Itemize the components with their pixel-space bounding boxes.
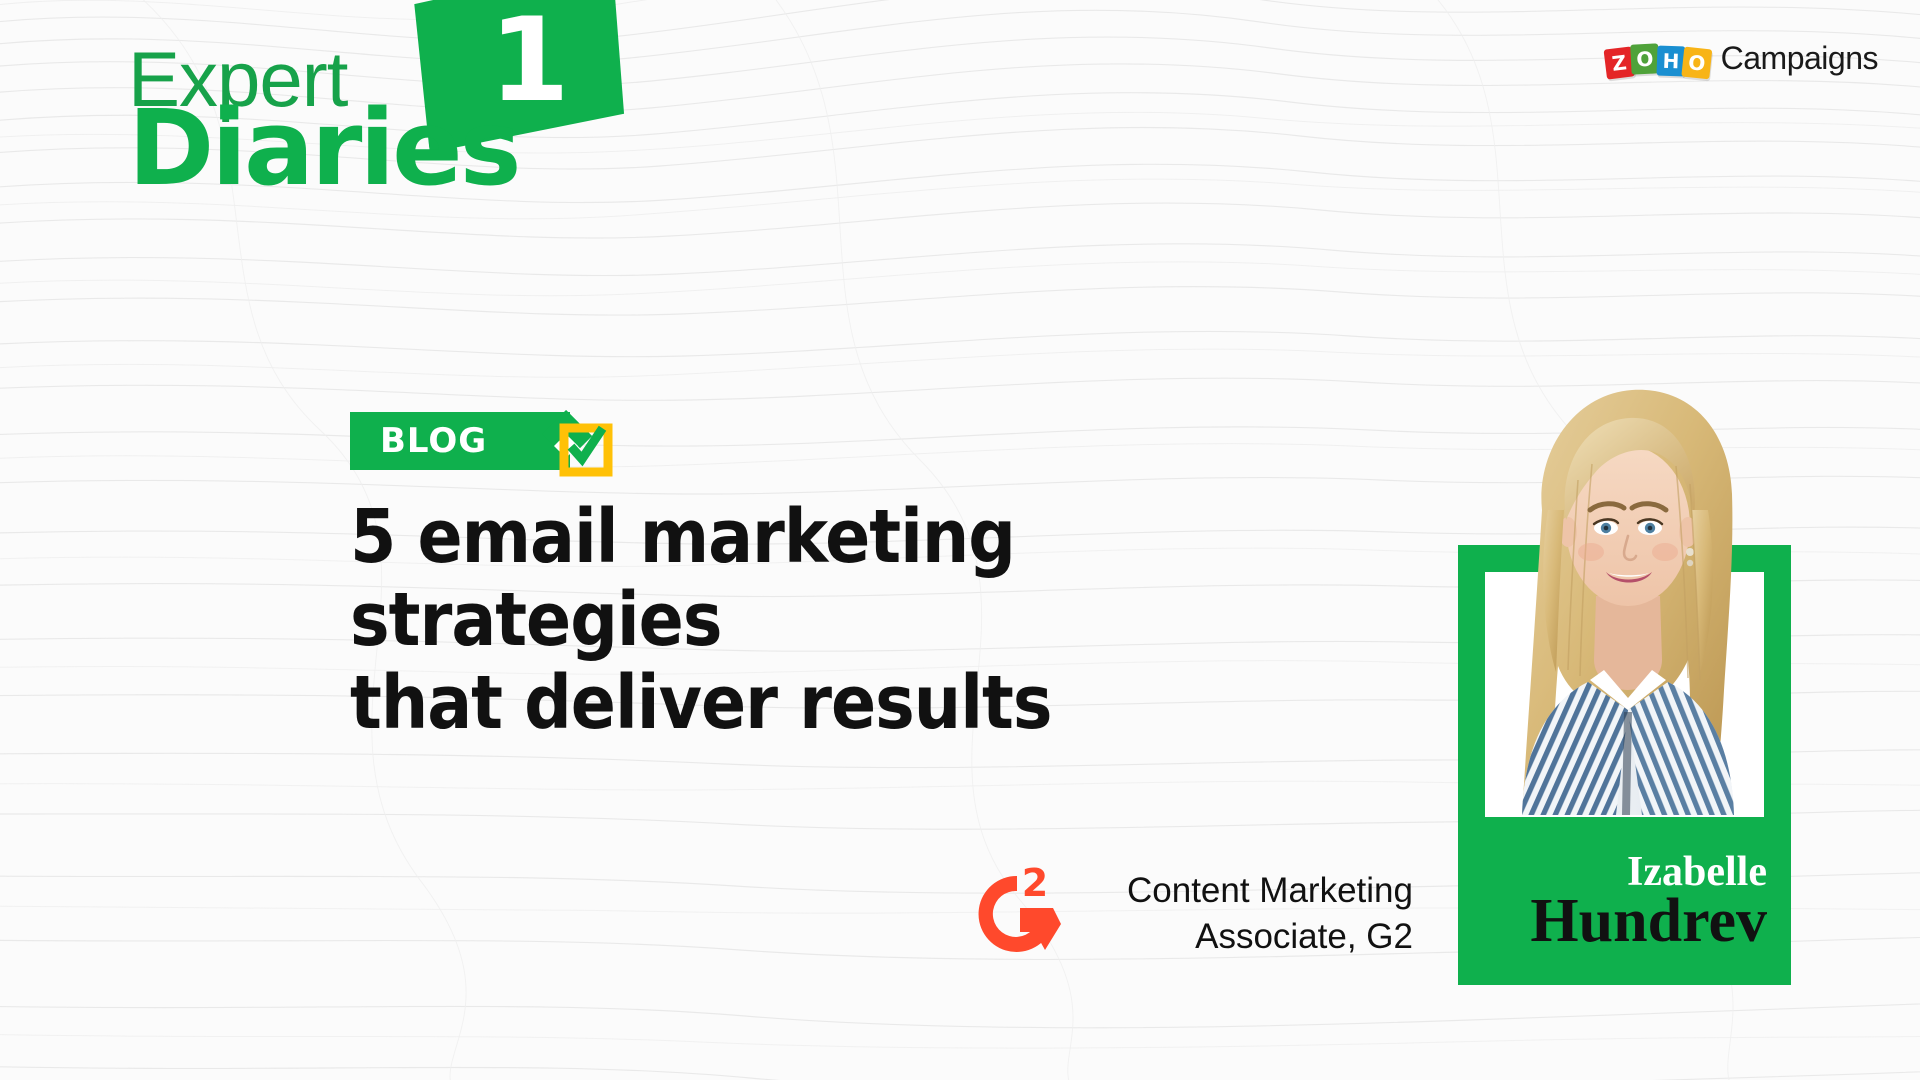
author-nameplate: Izabelle Hundrev (1458, 820, 1791, 985)
headline-line-1: 5 email marketing strategies (350, 496, 1380, 662)
author-role: Content Marketing Associate, G2 (1127, 868, 1413, 960)
blog-badge-group: BLOG (350, 412, 570, 470)
blog-badge-label: BLOG (380, 421, 487, 461)
page-title: 5 email marketing strategies that delive… (350, 496, 1380, 745)
brand-word-diaries: Diaries (128, 104, 519, 193)
author-role-line-2: Associate, G2 (1127, 914, 1413, 960)
author-last-name: Hundrev (1530, 890, 1767, 953)
byline: 2 Content Marketing Associate, G2 (965, 862, 1413, 966)
zoho-block-o2: O (1681, 46, 1712, 79)
product-wordmark: Campaigns (1721, 40, 1878, 77)
avatar (1478, 360, 1778, 815)
zoho-blocks-icon: Z O H O (1605, 42, 1709, 76)
author-role-line-1: Content Marketing (1127, 868, 1413, 914)
headline-line-2: that deliver results (350, 662, 1380, 745)
svg-text:2: 2 (1022, 862, 1048, 905)
checkbox-check-icon (536, 400, 616, 480)
zoho-block-o1: O (1630, 43, 1660, 74)
zoho-campaigns-logo: Z O H O Campaigns (1605, 40, 1878, 77)
brand-logo: Expert Diaries (128, 48, 519, 193)
g2-logo-icon: 2 (965, 862, 1069, 966)
